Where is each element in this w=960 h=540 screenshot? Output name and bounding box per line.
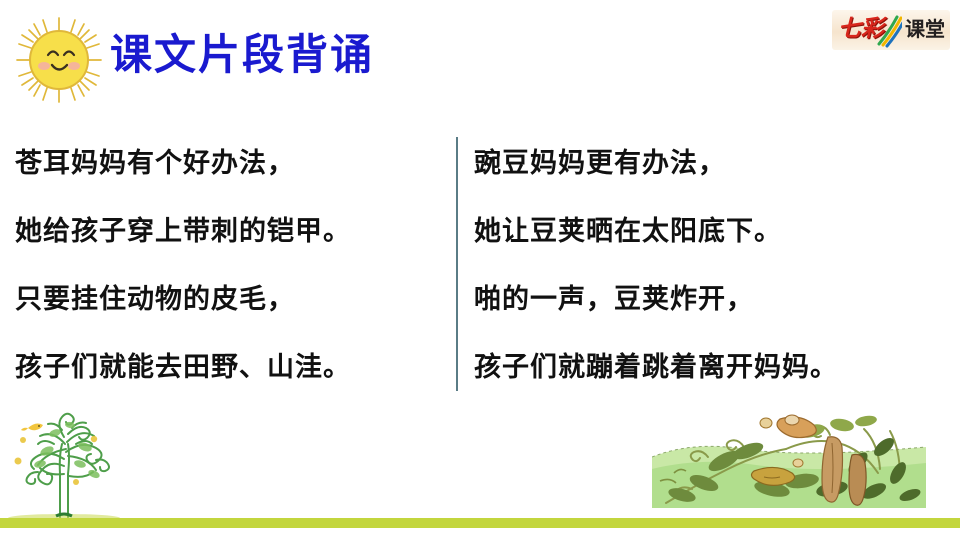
pea-pods-on-vine-illustration <box>652 411 926 508</box>
smiling-sun-icon <box>12 14 106 106</box>
rainbow-swoosh-icon <box>876 14 902 48</box>
verse-column-left: 苍耳妈妈有个好办法， 她给孩子穿上带刺的铠甲。 只要挂住动物的皮毛， 孩子们就能… <box>15 130 445 402</box>
verse-column-right: 豌豆妈妈更有办法， 她让豆荚晒在太阳底下。 啪的一声，豆荚炸开， 孩子们就蹦着跳… <box>474 130 952 402</box>
bottom-green-bar <box>0 518 960 528</box>
verse-line: 苍耳妈妈有个好办法， <box>15 130 445 198</box>
verse-line: 孩子们就能去田野、山洼。 <box>15 334 445 402</box>
swirly-green-tree-with-bird-illustration <box>6 404 166 524</box>
brand-logo-text-dark: 课堂 <box>905 17 945 41</box>
bird-icon <box>21 424 43 431</box>
brand-logo: 七彩 课堂 <box>832 10 950 50</box>
slide-header: 课文片段背诵 七彩 课堂 <box>0 0 960 112</box>
verse-line: 孩子们就蹦着跳着离开妈妈。 <box>474 334 952 402</box>
verse-line: 豌豆妈妈更有办法， <box>474 130 952 198</box>
verse-line: 只要挂住动物的皮毛， <box>15 266 445 334</box>
column-divider <box>456 137 458 391</box>
slide-canvas: 课文片段背诵 七彩 课堂 苍耳妈妈有个好办法， 她给孩子穿上带刺的铠甲。 只要挂… <box>0 0 960 540</box>
verse-line: 她给孩子穿上带刺的铠甲。 <box>15 198 445 266</box>
verse-line: 啪的一声，豆荚炸开， <box>474 266 952 334</box>
verse-line: 她让豆荚晒在太阳底下。 <box>474 198 952 266</box>
page-title: 课文片段背诵 <box>110 28 374 82</box>
verse-content-area: 苍耳妈妈有个好办法， 她给孩子穿上带刺的铠甲。 只要挂住动物的皮毛， 孩子们就能… <box>0 130 960 400</box>
